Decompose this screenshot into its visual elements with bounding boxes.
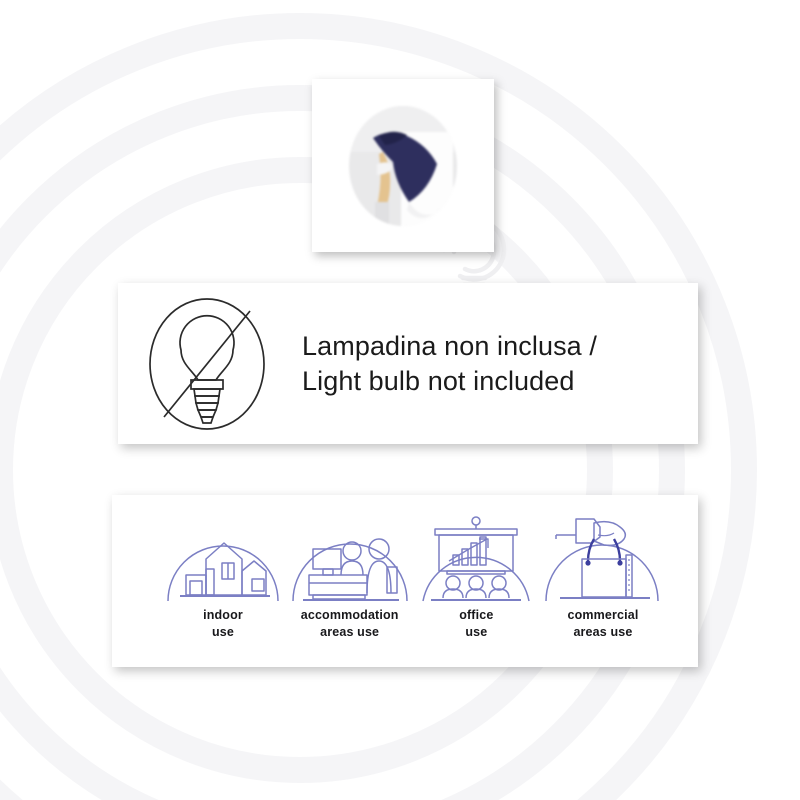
bulb-not-included-card[interactable]: Lampadina non inclusa / Light bulb not i… — [118, 283, 698, 444]
house-icon — [160, 505, 286, 605]
usage-item-office[interactable]: office use — [413, 505, 539, 640]
usage-label-indoor: indoor use — [203, 607, 243, 640]
presentation-icon — [413, 505, 539, 605]
bulb-notice-text: Lampadina non inclusa / Light bulb not i… — [302, 329, 597, 397]
product-photo-card[interactable] — [312, 79, 494, 252]
reception-desk-icon — [287, 505, 413, 605]
usage-label-accommodation: accommodation areas use — [301, 607, 399, 640]
usage-item-indoor[interactable]: indoor use — [160, 505, 286, 640]
usage-item-accommodation[interactable]: accommodation areas use — [287, 505, 413, 640]
usage-areas-card[interactable]: indoor use acc — [112, 495, 698, 667]
shopping-bag-icon — [540, 505, 666, 605]
usage-label-commercial: commercial areas use — [567, 607, 638, 640]
usage-item-commercial[interactable]: commercial areas use — [540, 505, 666, 640]
usage-label-office: office use — [459, 607, 493, 640]
product-photo-thumbnail — [349, 106, 457, 226]
no-bulb-icon — [146, 295, 268, 433]
